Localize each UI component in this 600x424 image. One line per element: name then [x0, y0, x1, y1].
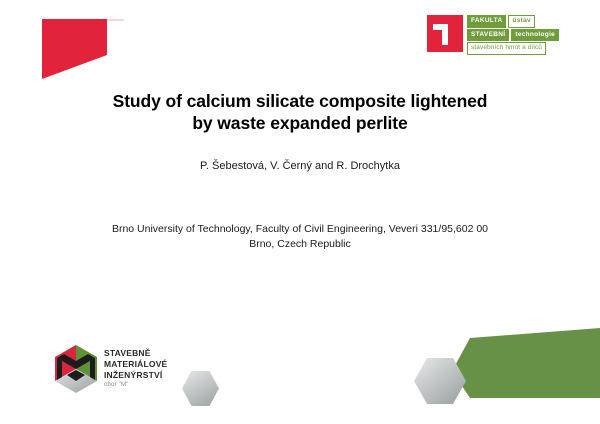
logo-faculty-label: FAKULTA [467, 15, 506, 28]
smi-line-3: INŽENÝRSTVÍ [104, 370, 167, 381]
slide-title: Study of calcium silicate composite ligh… [60, 90, 540, 135]
red-quadrilateral-decoration [42, 19, 107, 79]
hexagon-m-icon [55, 345, 97, 393]
slide-title-line-2: by waste expanded perlite [60, 112, 540, 134]
smi-logo-text: STAVEBNĚ MATERIÁLOVÉ INŽENÝRSTVÍ obor "M… [104, 348, 167, 389]
smi-line-2: MATERIÁLOVÉ [104, 359, 167, 370]
pink-accent-line [107, 19, 124, 21]
grey-hexagon-decoration-bottom-right [414, 358, 466, 404]
logo-institute2-label: technologie [511, 29, 559, 42]
affiliation-line-2: Brno, Czech Republic [45, 237, 555, 252]
smi-department-logo: STAVEBNĚ MATERIÁLOVÉ INŽENÝRSTVÍ obor "M… [55, 345, 167, 393]
vut-t-mark-icon [427, 15, 463, 52]
vut-faculty-logo: FAKULTA ústav STAVEBNÍ technologie stave… [427, 15, 559, 55]
logo-row-2: STAVEBNÍ technologie [467, 29, 559, 42]
slide-affiliation: Brno University of Technology, Faculty o… [45, 222, 555, 252]
logo-row-1: FAKULTA ústav [467, 15, 559, 28]
vut-logo-text: FAKULTA ústav STAVEBNÍ technologie stave… [467, 15, 559, 55]
affiliation-line-1: Brno University of Technology, Faculty o… [45, 222, 555, 237]
slide-authors: P. Šebestová, V. Černý and R. Drochytka [60, 160, 540, 172]
smi-subtitle: obor "M" [104, 382, 167, 390]
slide-title-line-1: Study of calcium silicate composite ligh… [60, 90, 540, 112]
logo-institute3-label: stavebních hmot a dílců [467, 42, 546, 55]
logo-row-3: stavebních hmot a dílců [467, 42, 559, 55]
logo-faculty2-label: STAVEBNÍ [467, 29, 509, 42]
smi-line-1: STAVEBNĚ [104, 348, 167, 359]
grey-hexagon-decoration-middle [182, 371, 219, 406]
presentation-slide: FAKULTA ústav STAVEBNÍ technologie stave… [0, 0, 600, 424]
logo-institute-label: ústav [508, 15, 534, 28]
